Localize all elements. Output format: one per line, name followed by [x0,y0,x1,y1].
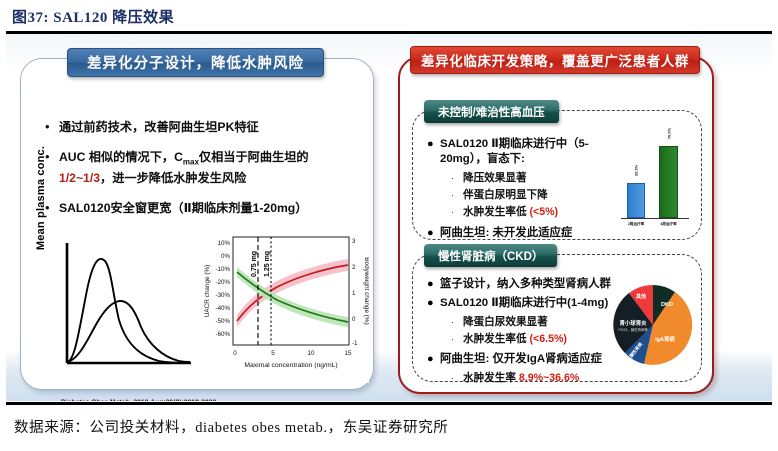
card-ckd: ● 篮子设计，纳入多种类型肾病人群 ● SAL0120 Ⅱ期临床进行中(1-4m… [412,254,702,382]
svg-text:5: 5 [271,350,275,357]
pk-chart-svg [39,235,199,385]
svg-text:IgA肾病: IgA肾病 [655,335,675,343]
list-item: ● 篮子设计，纳入多种类型肾病人群 [427,277,613,292]
left-panel: • 通过前药技术，改善阿曲生坦PK特征 • AUC 相似的情况下，Cmax仅相当… [20,58,374,390]
list-item: ● 阿曲生坦: 未开发此适应症 [427,226,613,241]
svg-text:FSGS、膜性肾病等: FSGS、膜性肾病等 [618,327,648,332]
left-bullet-list: • 通过前药技术，改善阿曲生坦PK特征 • AUC 相似的情况下，Cmax仅相当… [45,119,357,230]
right-panel-banner: 差异化临床开发策略，覆盖更广泛患者人群 [410,46,700,74]
list-item: • AUC 相似的情况下，Cmax仅相当于阿曲生坦的1/2~1/3，进一步降低水… [45,149,357,187]
svg-text:-10%: -10% [216,266,231,273]
left-panel-banner: 差异化分子设计，降低水肿风险 [67,48,324,77]
uacr-exposure-chart: 0.75 mg 1.25 mg 10%0% -10%-20% -30%-40% … [197,231,369,383]
svg-text:肾小球肾炎: 肾小球肾炎 [620,319,648,327]
list-item: · 水肿发生率低 (<6.5%) [451,332,613,346]
slide-canvas: • 通过前药技术，改善阿曲生坦PK特征 • AUC 相似的情况下，Cmax仅相当… [6,34,772,401]
tab-hypertension[interactable]: 未控制/难治性高血压 [424,100,559,123]
htn-bullet-list: ● SAL0120 Ⅱ期临床进行中（5-20mg），盲态下: · 降压效果显著 … [427,137,613,245]
bullet-dot-icon: ● [427,296,440,311]
svg-text:0: 0 [233,350,237,357]
source-note: 数据来源：公司投关材料，diabetes obes metab.，东吴证券研究所 [14,416,448,437]
svg-text:15: 15 [345,350,352,357]
pk-chart-ylabel: Mean plasma conc. [35,143,47,253]
card-hypertension: ● SAL0120 Ⅱ期临床进行中（5-20mg），盲态下: · 降压效果显著 … [412,110,702,240]
figure-number: 图37: [12,10,49,26]
uacr-chart-svg: 0.75 mg 1.25 mg 10%0% -10%-20% -30%-40% … [197,231,369,383]
ckd-pie-svg: DKD IgA肾病 肾小球肾炎 FSGS、膜性肾病等 膜性肾病 其他 [609,279,697,371]
left-panel-citation: Diabetes Obes Metab. 2018 Aug;20(8):2019… [61,399,216,401]
list-item: ● SAL0120 Ⅱ期临床进行中（5-20mg），盲态下: [427,137,613,167]
htn-edema-rate: (<5%) [530,206,559,218]
left-bullet-1-text: 通过前药技术，改善阿曲生坦PK特征 [59,119,259,136]
htn-bullet-5: 阿曲生坦: 未开发此适应症 [440,226,572,241]
right-panel: ● SAL0120 Ⅱ期临床进行中（5-20mg），盲态下: · 降压效果显著 … [398,56,714,394]
figure-title: SAL120 降压效果 [53,10,174,26]
ckd-bullet-6: 水肿发生率 8.9%~36.6% [463,371,579,385]
svg-text:-50%: -50% [216,318,231,325]
left-bullet-2-highlight: 1/2~1/3 [59,171,100,185]
ckd-etiology-pie-chart: DKD IgA肾病 肾小球肾炎 FSGS、膜性肾病等 膜性肾病 其他 [609,279,697,371]
svg-text:-30%: -30% [216,292,231,299]
bullet-dash-icon: · [451,315,463,329]
svg-text:Bodyweight change (%): Bodyweight change (%) [363,257,369,325]
svg-text:-60%: -60% [216,331,231,338]
atrasentan-edema-rate: 8.9%~36.6% [519,372,579,384]
bullet-dot-icon: • [45,200,59,217]
list-item: • SAL0120安全窗更宽（Ⅱ期临床剂量1-20mg） [45,200,357,217]
pk-profile-chart: Mean plasma conc. [39,235,199,385]
list-item: · 伴蛋白尿明显下降 [451,188,613,202]
bullet-dot-icon: ● [427,137,440,167]
list-item: ● SAL0120 Ⅱ期临床进行中(1-4mg) [427,296,613,311]
list-item: • 通过前药技术，改善阿曲生坦PK特征 [45,119,357,136]
bar-week4: 70.0% 4周治疗率 [659,146,678,218]
list-item: ● 阿曲生坦: 仅开发IgA肾病适应症 [427,352,613,367]
ckd-bullet-2: SAL0120 Ⅱ期临床进行中(1-4mg) [440,296,608,311]
left-bullet-2-text: AUC 相似的情况下，Cmax仅相当于阿曲生坦的1/2~1/3，进一步降低水肿发… [59,149,309,187]
list-item: · 降蛋白尿效果显著 [451,315,613,329]
svg-text:-20%: -20% [216,279,231,286]
bullet-dot-icon: ● [427,277,440,292]
svg-text:2: 2 [352,264,356,271]
bullet-dot-icon: • [45,119,59,136]
figure-caption: 图37: SAL120 降压效果 [12,6,174,27]
svg-text:-1: -1 [352,340,358,347]
svg-text:10: 10 [308,350,315,357]
bar-week4-value: 70.0% [666,128,671,139]
bar-week4-label: 4周治疗率 [660,222,676,227]
htn-response-bar-chart: 33.3% 2周治疗率 70.0% 4周治疗率 [619,141,691,229]
ckd-edema-rate: (<6.5%) [530,333,567,345]
htn-bullet-1: SAL0120 Ⅱ期临床进行中（5-20mg），盲态下: [440,137,613,167]
svg-text:UACR change (%): UACR change (%) [204,265,211,318]
bullet-dash-icon: · [451,205,463,219]
svg-text:10%: 10% [218,240,231,247]
bullet-dot-icon: ● [427,352,440,367]
htn-bullet-2: 降压效果显著 [463,171,527,185]
bar-week2: 33.3% 2周治疗率 [627,183,645,218]
list-item: · 水肿发生率 8.9%~36.6% [451,371,613,385]
bullet-dash-icon: · [451,332,463,346]
svg-text:DKD: DKD [661,302,673,308]
svg-text:Maximal concentration (ng/mL): Maximal concentration (ng/mL) [244,362,337,369]
bullet-dot-icon: • [45,149,59,187]
bar-week2-label: 2周治疗率 [628,222,644,227]
ckd-bullet-3: 降蛋白尿效果显著 [463,315,548,329]
svg-text:1: 1 [352,290,356,297]
ckd-bullet-4: 水肿发生率低 (<6.5%) [463,332,567,346]
bullet-dash-icon: · [451,371,463,385]
bar-week2-value: 33.3% [634,165,639,176]
bullet-dash-icon: · [451,171,463,185]
ckd-bullet-5: 阿曲生坦: 仅开发IgA肾病适应症 [440,352,602,367]
svg-text:3: 3 [352,238,356,245]
ckd-bullet-list: ● 篮子设计，纳入多种类型肾病人群 ● SAL0120 Ⅱ期临床进行中(1-4m… [427,277,613,388]
tab-ckd[interactable]: 慢性肾脏病（CKD） [424,244,557,267]
htn-bullet-3: 伴蛋白尿明显下降 [463,188,548,202]
svg-text:1.25 mg: 1.25 mg [264,251,271,277]
svg-text:0: 0 [352,316,356,323]
list-item: · 水肿发生率低 (<5%) [451,205,613,219]
bullet-dash-icon: · [451,188,463,202]
bullet-dot-icon: ● [427,226,440,241]
list-item: · 降压效果显著 [451,171,613,185]
svg-text:-40%: -40% [216,305,231,312]
svg-text:其他: 其他 [636,293,646,300]
htn-bullet-4: 水肿发生率低 (<5%) [463,205,558,219]
svg-text:0.75 mg: 0.75 mg [251,251,258,277]
bottom-divider [6,402,772,405]
ckd-bullet-1: 篮子设计，纳入多种类型肾病人群 [440,277,611,292]
svg-text:0%: 0% [221,253,230,260]
left-bullet-3-text: SAL0120安全窗更宽（Ⅱ期临床剂量1-20mg） [59,200,307,217]
